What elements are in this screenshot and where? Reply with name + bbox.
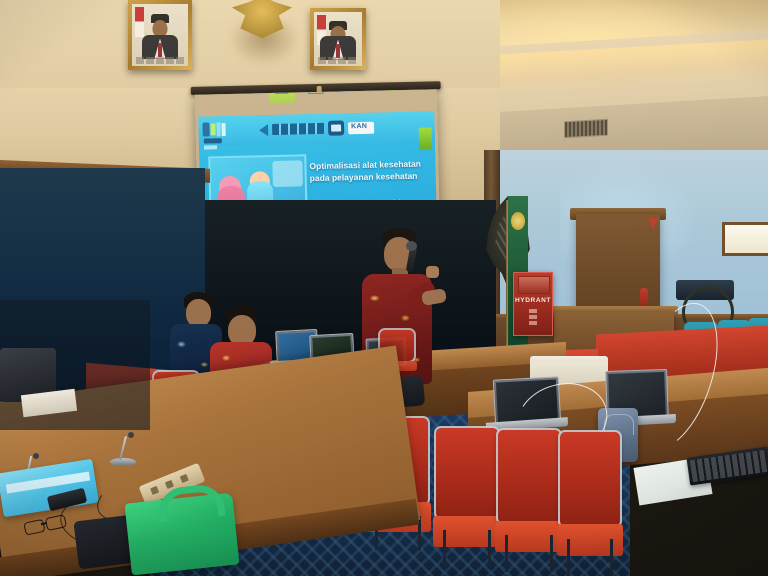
chair-red xyxy=(436,428,498,566)
chair-red xyxy=(560,432,620,576)
hydrant-label: HYDRANT xyxy=(514,297,552,304)
slide-title: Optimalisasi alat kesehatan pada pelayan… xyxy=(309,157,430,184)
portrait-frame-right xyxy=(310,8,366,70)
air-vent-icon xyxy=(564,119,608,138)
high-window xyxy=(722,222,768,256)
photo-scene: Optimalisasi alat kesehatan pada pelayan… xyxy=(0,0,768,576)
power-indicator-icon xyxy=(387,89,396,91)
head xyxy=(186,299,211,327)
hydrant-glass xyxy=(518,276,550,294)
kan-logo xyxy=(348,121,374,134)
flag-emblem-icon xyxy=(511,212,525,230)
chevron-left-icon xyxy=(259,124,268,136)
flag-icon xyxy=(135,7,144,37)
hand-right xyxy=(426,266,439,278)
portrait-frame-left xyxy=(128,0,192,70)
hydrant-box: HYDRANT xyxy=(513,272,553,336)
microphone-head-icon xyxy=(406,241,417,251)
slide-corner-chip xyxy=(419,127,432,149)
slide-center-logos xyxy=(259,120,374,138)
chair-red xyxy=(498,430,560,572)
accreditation-badge-icon xyxy=(328,120,344,135)
slide-logo-cluster xyxy=(202,122,231,153)
hydrant-marks xyxy=(529,309,537,325)
slide-title-line2: pada pelayanan kesehatan xyxy=(310,169,430,184)
slide-org-text xyxy=(272,123,324,135)
